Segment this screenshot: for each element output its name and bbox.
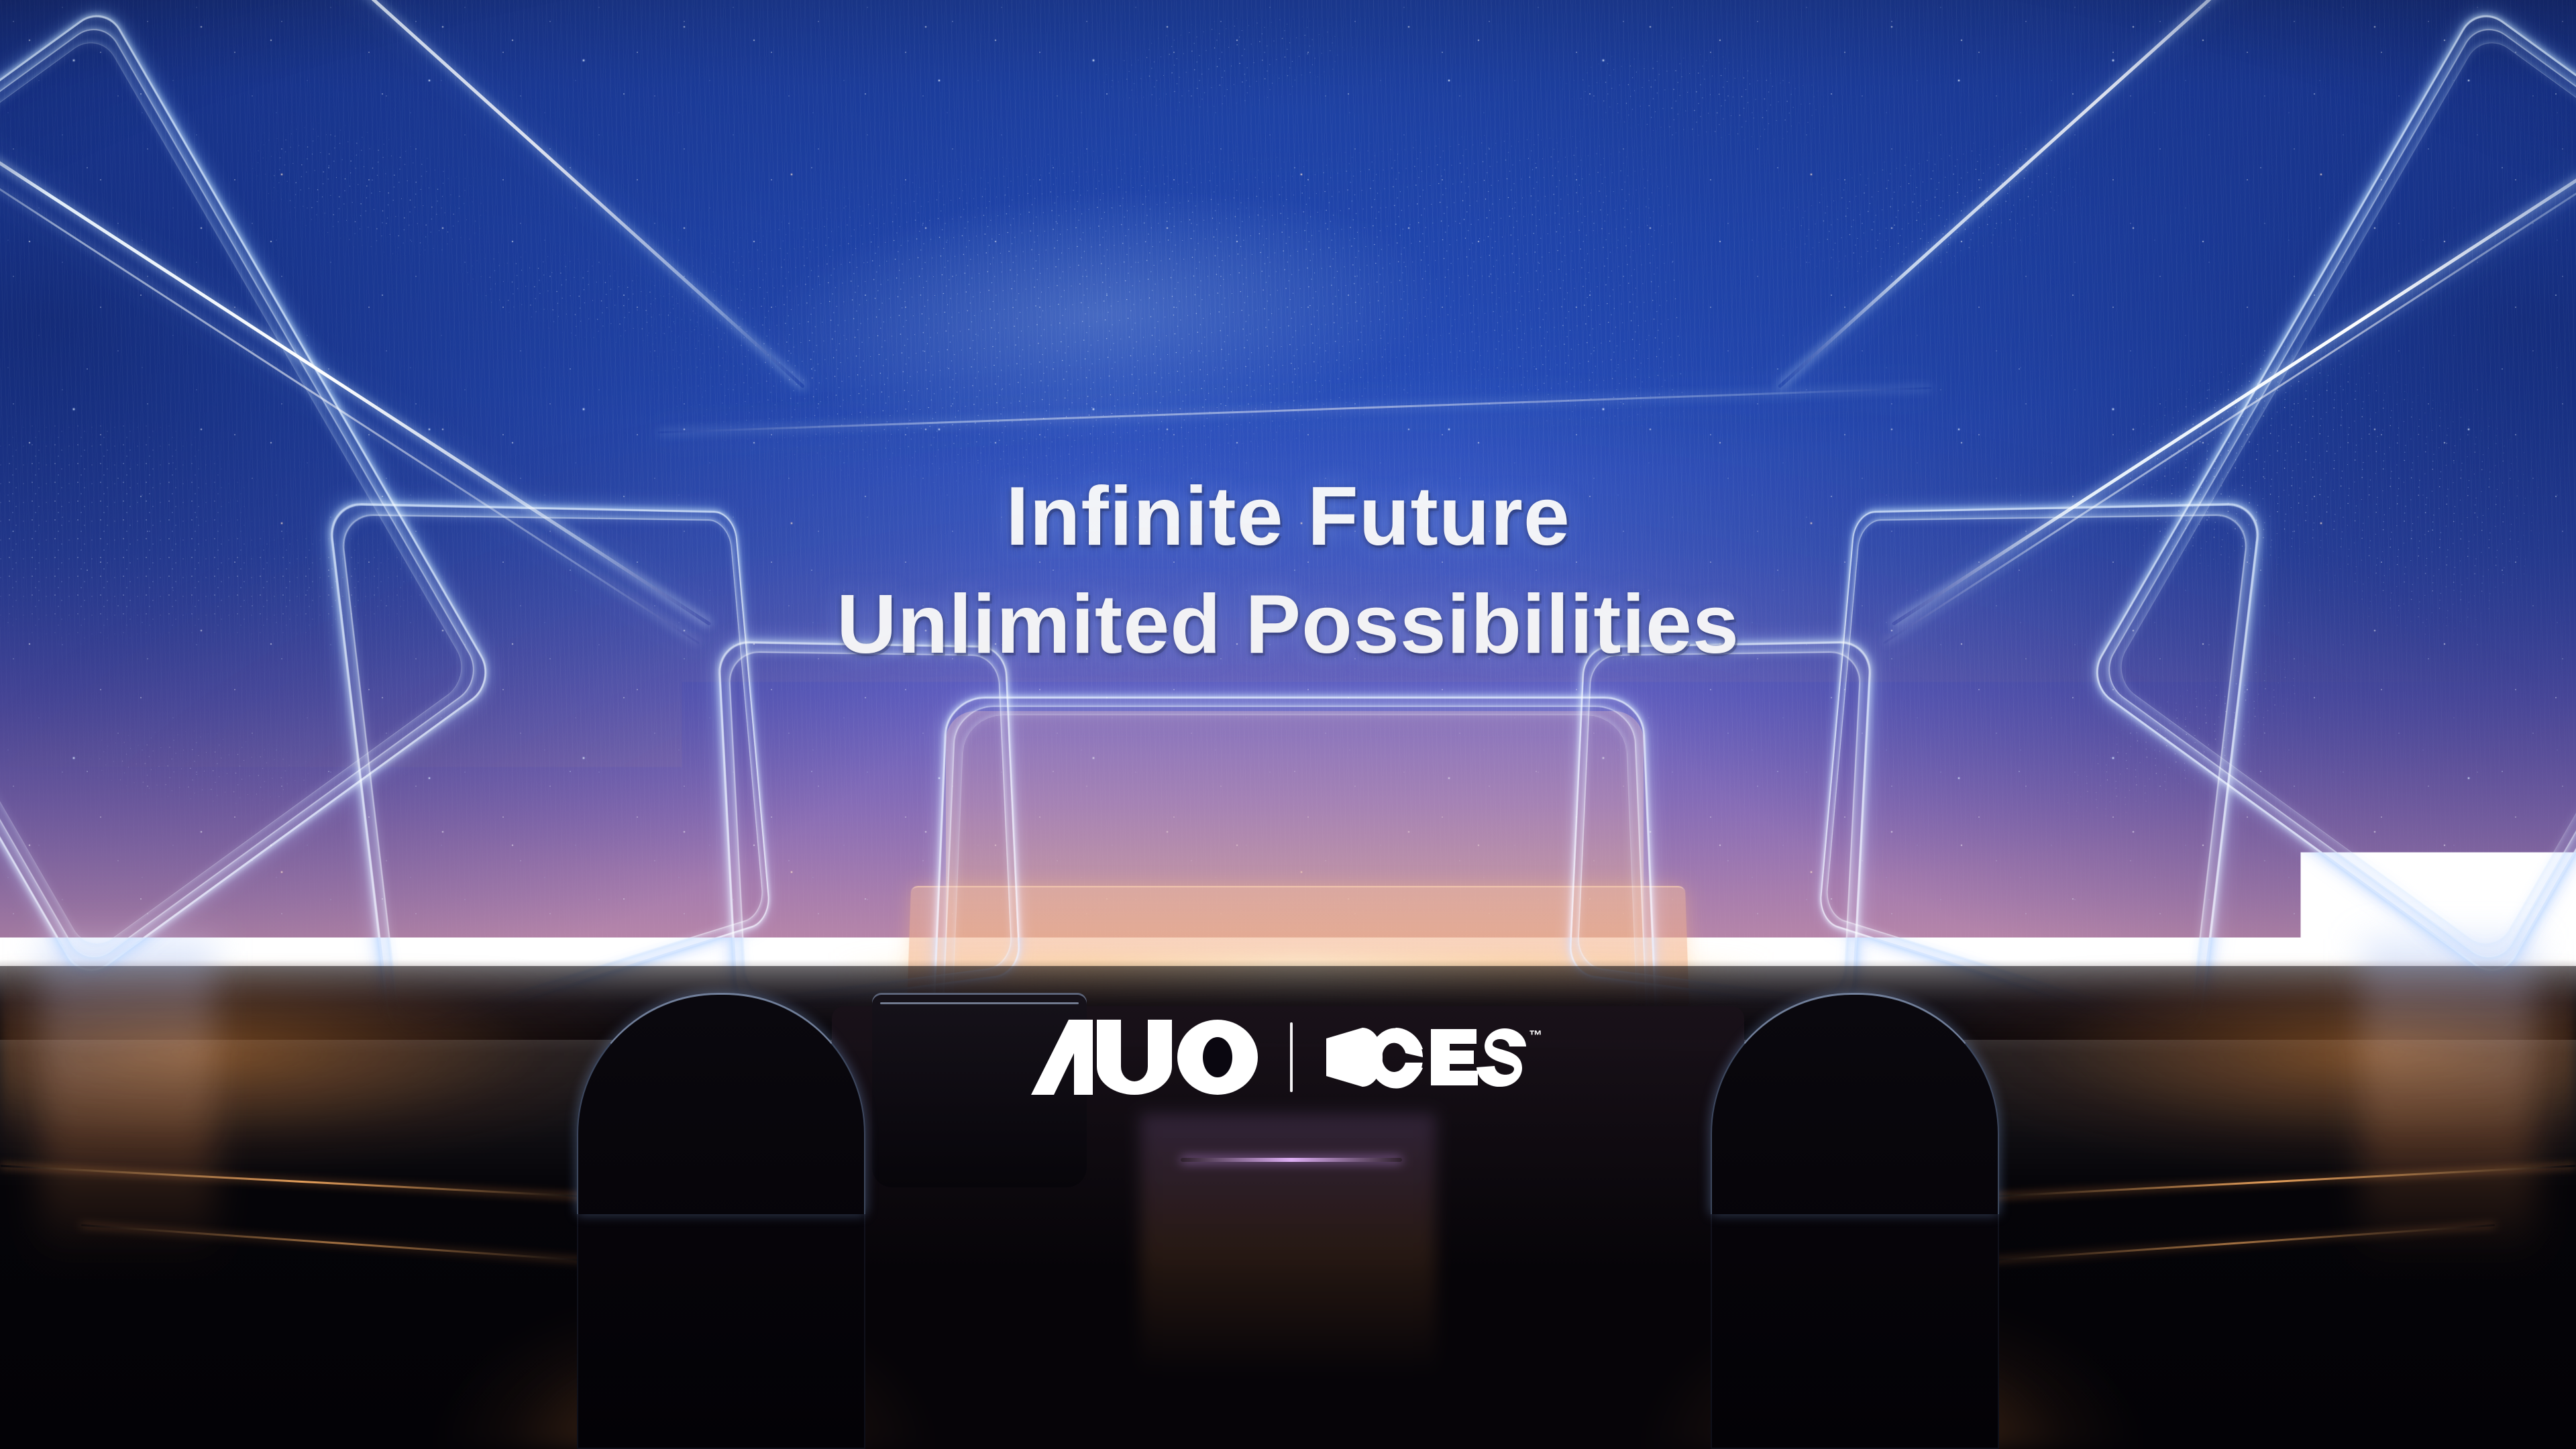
- headline-line-2: Unlimited Possibilities: [0, 571, 2576, 679]
- console-light-bar: [1181, 1158, 1402, 1162]
- headline-line-1: Infinite Future: [0, 463, 2576, 571]
- key-visual-canvas: Infinite Future Unlimited Possibilities: [0, 0, 2576, 1449]
- ces-logo-icon: ™: [1324, 1025, 1545, 1089]
- headline: Infinite Future Unlimited Possibilities: [0, 463, 2576, 679]
- auo-logo-icon: [1031, 1020, 1259, 1095]
- steering-yoke-highlight: [880, 1002, 1079, 1004]
- event-venue: LVCC - West Hall, Booth # 4400: [0, 1234, 2576, 1286]
- ces-trademark-icon: ™: [1529, 1028, 1542, 1043]
- brand-lockup: ™: [0, 1020, 2576, 1095]
- brand-divider: [1290, 1022, 1293, 1092]
- event-details: LVCC - West Hall, Booth # 4400 January 7…: [0, 1234, 2576, 1338]
- event-dates: January 7-10, 2025: [0, 1286, 2576, 1338]
